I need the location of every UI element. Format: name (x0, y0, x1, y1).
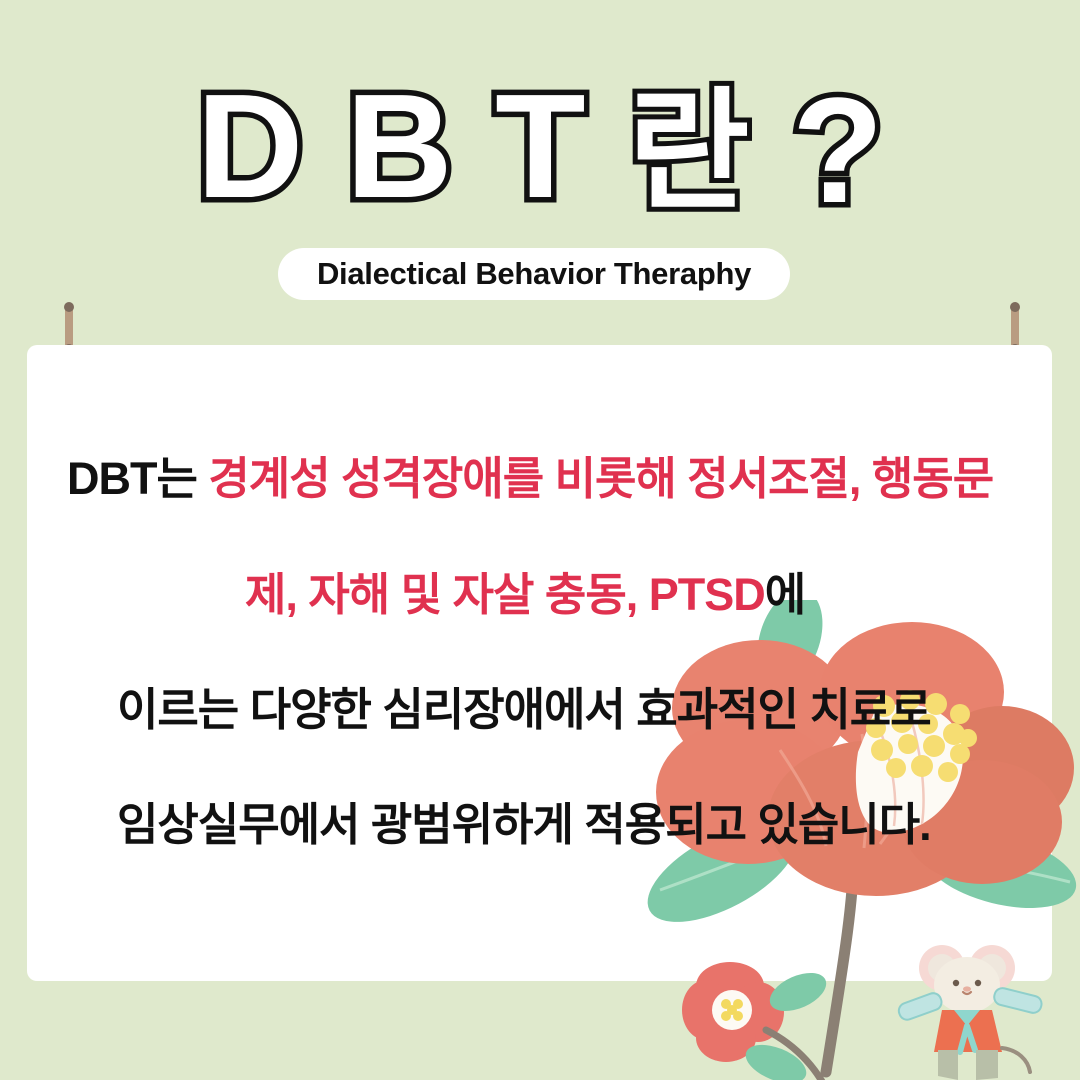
subtitle-text: Dialectical Behavior Theraphy (317, 256, 751, 292)
title-char-b: B (346, 73, 453, 221)
hanbok-mouse-illustration (880, 940, 1080, 1080)
subtitle-pill: Dialectical Behavior Theraphy (278, 248, 790, 300)
page-title: D B T 란 ? (0, 72, 1080, 222)
title-char-d: D (196, 73, 303, 221)
title-char-t: T (495, 73, 585, 221)
title-char-ran: 란 (628, 86, 749, 218)
poster-root: D B T 란 ? Dialectical Behavior Theraphy (0, 0, 1080, 1080)
title-char-question-mark: ? (792, 75, 884, 225)
